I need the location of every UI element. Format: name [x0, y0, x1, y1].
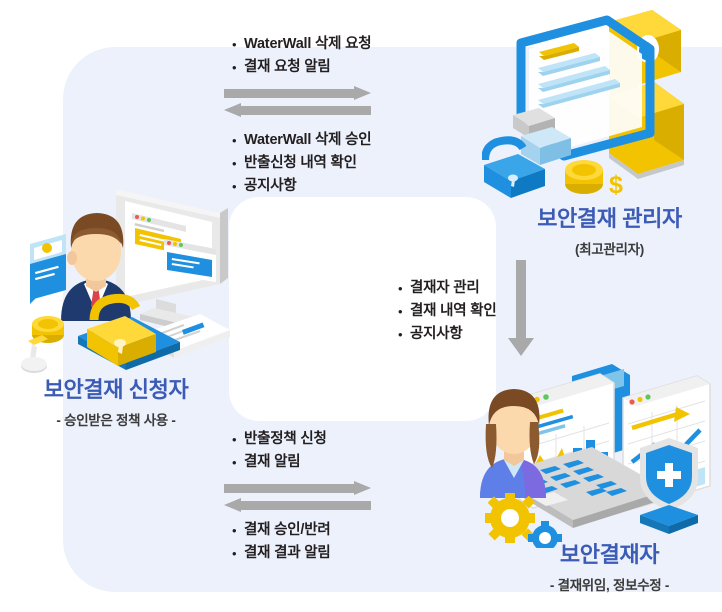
bullet-list-applicant-to-admin: • WaterWall 삭제 요청 • 결재 요청 알림	[232, 33, 371, 79]
list-item: • 공지사항	[398, 323, 497, 346]
woman-avatar	[480, 389, 546, 498]
arrow-right-icon	[224, 86, 371, 100]
bullet-text: 결재자 관리	[410, 277, 480, 300]
bullet-list-applicant-to-approver: • 반출정책 신청 • 결재 알림	[232, 428, 327, 474]
bullet-dot-icon: •	[232, 129, 244, 152]
bullet-list-admin-to-approver: • 결재자 관리 • 결재 내역 확인 • 공지사항	[398, 277, 497, 346]
arrow-head	[354, 481, 371, 495]
role-subtitle: (최고관리자)	[497, 238, 722, 258]
list-item: • WaterWall 삭제 승인	[232, 129, 371, 152]
coins-icon	[565, 160, 603, 194]
role-title: 보안결재 신청자	[0, 376, 232, 404]
list-item: • 결재 내역 확인	[398, 300, 497, 323]
dollar-sign-icon: $	[609, 171, 623, 199]
illustration-security-applicant	[4, 186, 248, 382]
arrow-left-icon	[224, 103, 371, 117]
arrow-shaft	[240, 501, 371, 510]
bullet-text: 공지사항	[410, 323, 463, 346]
bullet-list-admin-to-applicant: • WaterWall 삭제 승인 • 반출신청 내역 확인 • 공지사항	[232, 129, 371, 198]
list-item: • 결재 요청 알림	[232, 56, 371, 79]
role-caption-admin: 보안결재 관리자 (최고관리자)	[497, 205, 722, 258]
role-title: 보안결재자	[497, 541, 722, 569]
list-item: • WaterWall 삭제 요청	[232, 33, 371, 56]
diagram-canvas: • WaterWall 삭제 요청 • 결재 요청 알림 • WaterWall…	[0, 0, 722, 612]
bullet-list-approver-to-applicant: • 결재 승인/반려 • 결재 결과 알림	[232, 519, 331, 565]
bullet-dot-icon: •	[232, 519, 244, 542]
illustration-security-approver	[472, 352, 720, 548]
arrow-shaft	[224, 484, 355, 493]
arrow-head	[354, 86, 371, 100]
bullet-text: 결재 알림	[244, 451, 300, 474]
bullet-text: 반출신청 내역 확인	[244, 152, 357, 175]
list-item: • 결재자 관리	[398, 277, 497, 300]
list-item: • 반출정책 신청	[232, 428, 327, 451]
list-item: • 결재 승인/반려	[232, 519, 331, 542]
list-item: • 결재 알림	[232, 451, 327, 474]
illustration-security-admin: $	[482, 8, 716, 204]
bullet-text: 결재 결과 알림	[244, 542, 331, 565]
role-caption-approver: 보안결재자 - 결재위임, 정보수정 -	[497, 541, 722, 594]
stamp-icon	[21, 335, 48, 373]
bullet-dot-icon: •	[232, 152, 244, 175]
list-item: • 공지사항	[232, 175, 371, 198]
bullet-dot-icon: •	[232, 33, 244, 56]
bullet-text: 공지사항	[244, 175, 297, 198]
bullet-dot-icon: •	[232, 451, 244, 474]
svg-text:$: $	[609, 171, 623, 199]
arrow-head	[224, 103, 241, 117]
arrow-left-icon	[224, 498, 371, 512]
arrow-shaft	[240, 106, 371, 115]
arrow-shaft	[516, 260, 526, 338]
bullet-dot-icon: •	[232, 542, 244, 565]
bullet-text: WaterWall 삭제 요청	[244, 33, 371, 56]
arrow-head	[224, 498, 241, 512]
list-item: • 반출신청 내역 확인	[232, 152, 371, 175]
role-subtitle: - 승인받은 정책 사용 -	[0, 409, 232, 429]
bullet-dot-icon: •	[232, 56, 244, 79]
list-item: • 결재 결과 알림	[232, 542, 331, 565]
arrow-right-icon	[224, 481, 371, 495]
bullet-dot-icon: •	[398, 300, 410, 323]
shield-icon	[640, 438, 698, 534]
bullet-text: 반출정책 신청	[244, 428, 327, 451]
gear-icon-large	[485, 493, 535, 543]
bullet-text: 결재 내역 확인	[410, 300, 497, 323]
arrow-shaft	[224, 89, 355, 98]
bullet-dot-icon: •	[232, 428, 244, 451]
bullet-text: WaterWall 삭제 승인	[244, 129, 371, 152]
chat-card-icon	[30, 234, 66, 304]
role-subtitle: - 결재위임, 정보수정 -	[497, 574, 722, 594]
bullet-dot-icon: •	[398, 277, 410, 300]
bullet-text: 결재 승인/반려	[244, 519, 331, 542]
arrow-down-icon	[508, 260, 534, 356]
bullet-text: 결재 요청 알림	[244, 56, 331, 79]
role-title: 보안결재 관리자	[497, 205, 722, 233]
role-caption-applicant: 보안결재 신청자 - 승인받은 정책 사용 -	[0, 376, 232, 429]
bullet-dot-icon: •	[398, 323, 410, 346]
